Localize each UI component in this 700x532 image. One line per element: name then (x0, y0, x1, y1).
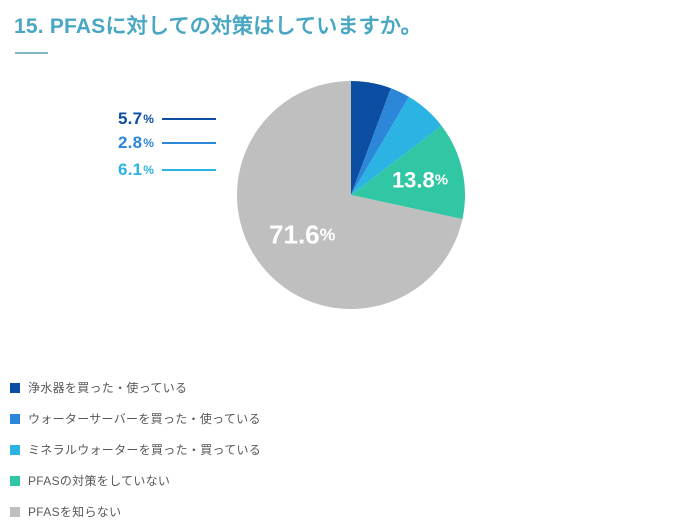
legend-item[interactable]: PFASの対策をしていない (10, 465, 430, 496)
legend-swatch-icon (10, 445, 20, 455)
chart-legend: 浄水器を買った・使っているウォーターサーバーを買った・使っているミネラルウォータ… (10, 372, 430, 527)
page-title: 15. PFASに対しての対策はしていますか。 (14, 10, 422, 40)
legend-item[interactable]: 浄水器を買った・使っている (10, 372, 430, 403)
legend-item-label: ウォーターサーバーを買った・使っている (28, 413, 261, 425)
legend-item-label: PFASを知らない (28, 506, 121, 518)
callout-leader-line-2 (162, 169, 216, 171)
pie-chart: 13.8%71.6% (237, 81, 465, 309)
callout-percent-sign-0: % (143, 112, 154, 126)
legend-swatch-icon (10, 414, 20, 424)
callout-value-1: 2.8 (118, 133, 142, 153)
legend-item[interactable]: ミネラルウォーターを買った・買っている (10, 434, 430, 465)
legend-swatch-icon (10, 476, 20, 486)
callout-value-0: 5.7 (118, 109, 142, 129)
pie-slice-group (237, 81, 465, 309)
legend-item[interactable]: ウォーターサーバーを買った・使っている (10, 403, 430, 434)
callout-value-2: 6.1 (118, 160, 142, 180)
callout-label-1: 2.8 % (118, 132, 216, 154)
callout-label-2: 6.1 % (118, 159, 216, 181)
pie-chart-svg: 13.8%71.6% (237, 81, 465, 309)
legend-swatch-icon (10, 507, 20, 517)
legend-item-label: ミネラルウォーターを買った・買っている (28, 444, 261, 456)
title-underline-rule (15, 52, 48, 54)
callout-percent-sign-2: % (143, 163, 154, 177)
callout-label-0: 5.7 % (118, 108, 216, 130)
legend-item-label: PFASの対策をしていない (28, 475, 170, 487)
legend-item-label: 浄水器を買った・使っている (28, 382, 187, 394)
callout-leader-line-0 (162, 118, 216, 120)
callout-percent-sign-1: % (143, 136, 154, 150)
legend-item[interactable]: PFASを知らない (10, 496, 430, 527)
legend-swatch-icon (10, 383, 20, 393)
callout-leader-line-1 (162, 142, 216, 144)
